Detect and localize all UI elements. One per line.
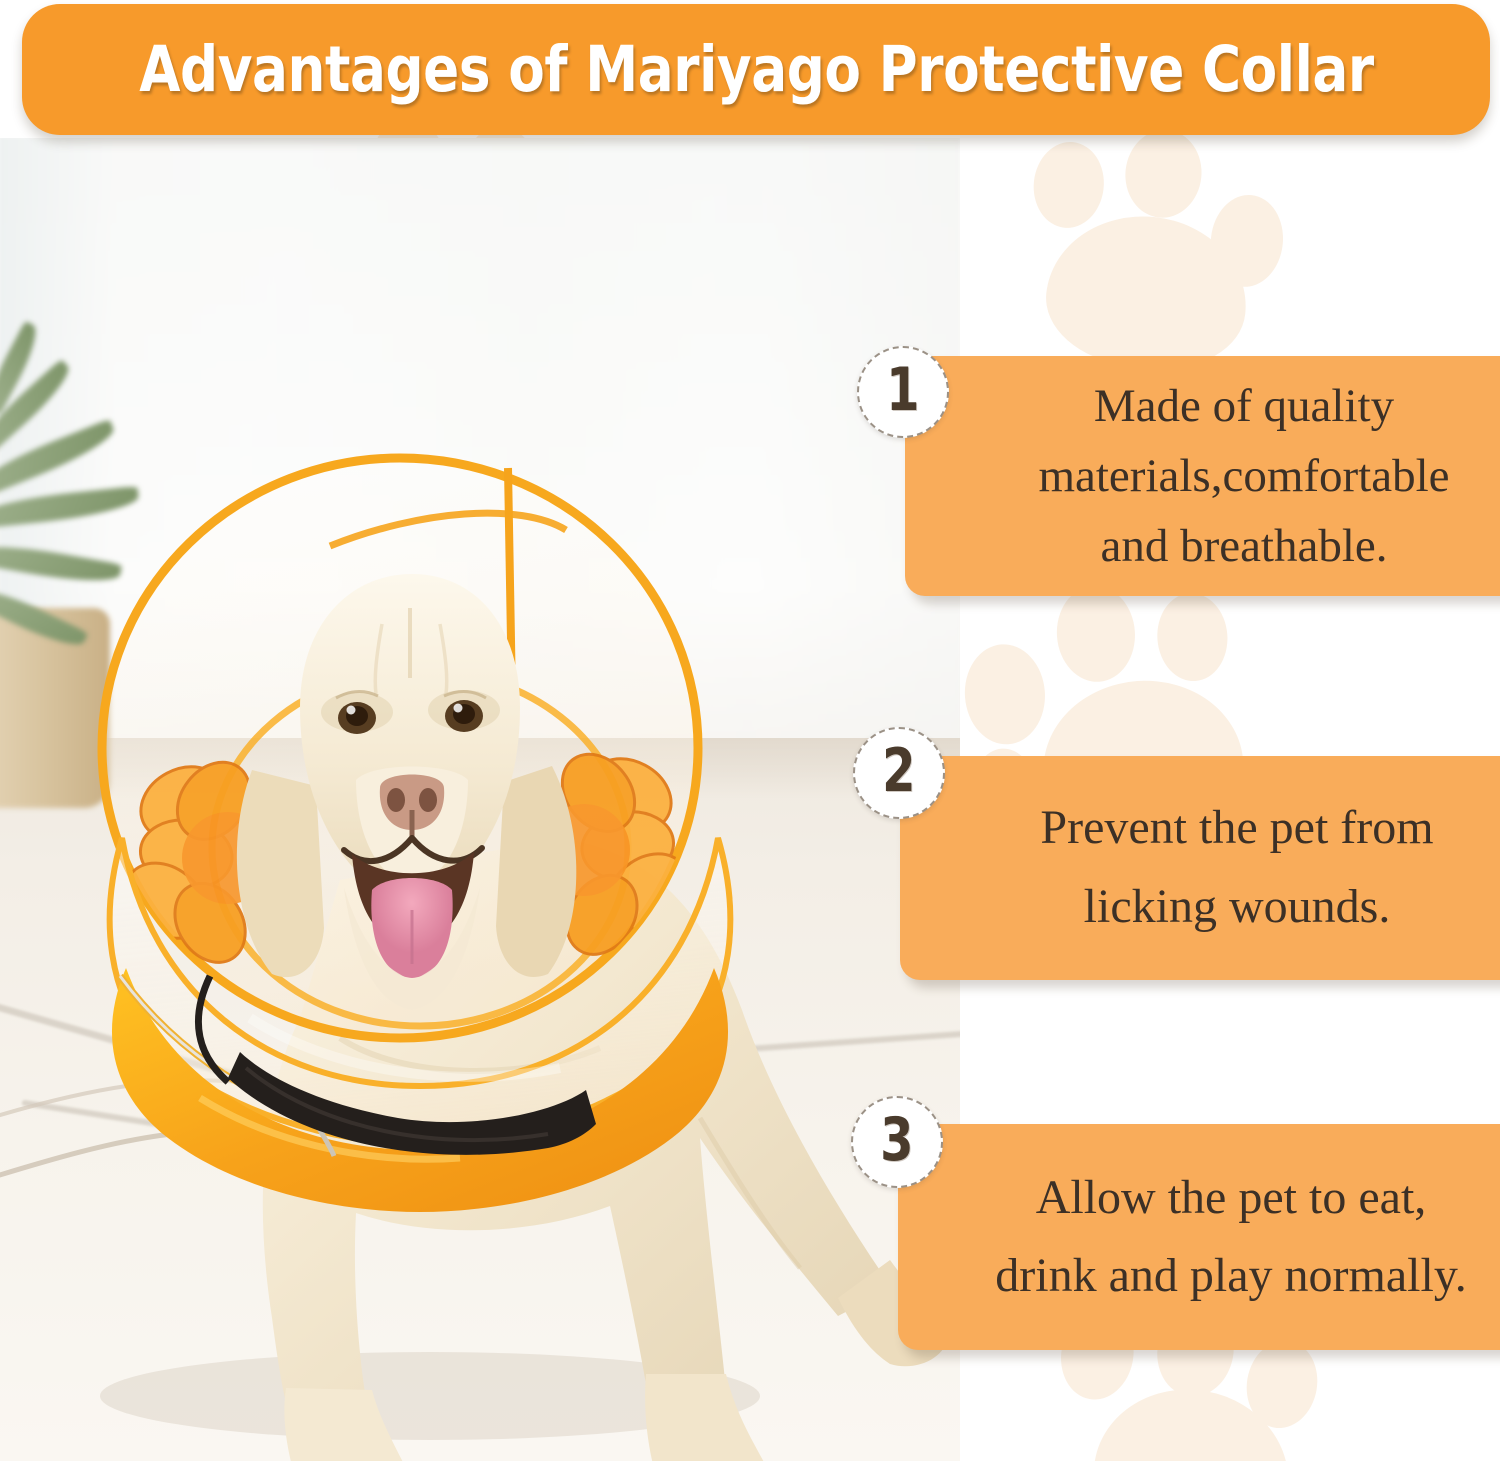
advantage-callout-1: Made of quality materials,comfortable an… [905, 356, 1500, 596]
page-title: Advantages of Mariyago Protective Collar [139, 33, 1374, 106]
callout-number-2: 2 [882, 741, 915, 801]
callout-number-3: 3 [880, 1110, 913, 1170]
advantage-text-line: Allow the pet to eat, [918, 1159, 1500, 1237]
callout-number-1: 1 [886, 360, 919, 420]
advantage-callout-3: Allow the pet to eat, drink and play nor… [898, 1124, 1500, 1350]
callout-number-badge-1: 1 [857, 346, 949, 438]
dog-illustration [0, 138, 960, 1461]
header-banner: Advantages of Mariyago Protective Collar [22, 4, 1490, 135]
advantage-text-line: and breathable. [943, 511, 1500, 581]
advantage-text-line: licking wounds. [934, 868, 1500, 947]
callout-number-badge-2: 2 [853, 727, 945, 819]
advantage-text-line: Made of quality [943, 371, 1500, 441]
advantage-text-line: drink and play normally. [918, 1237, 1500, 1315]
product-photo [0, 138, 960, 1461]
advantage-text-line: materials,comfortable [943, 441, 1500, 511]
callout-number-badge-3: 3 [851, 1096, 943, 1188]
advantage-text-line: Prevent the pet from [934, 789, 1500, 868]
advantage-callout-2: Prevent the pet from licking wounds. [900, 756, 1500, 980]
